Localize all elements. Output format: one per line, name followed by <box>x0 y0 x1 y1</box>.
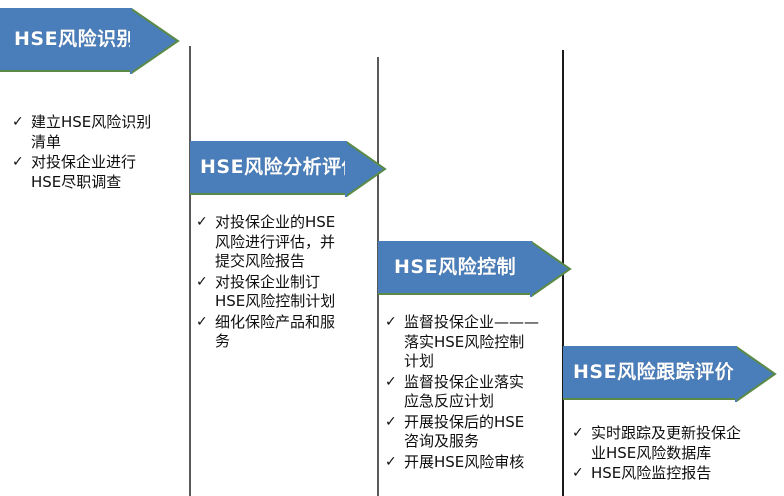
stage-label-3: HSE风险控制 <box>394 258 516 277</box>
check-icon: ✓ <box>385 313 404 331</box>
list-item: ✓ 开展投保后的HSE 咨询及服务 <box>385 413 557 452</box>
bullet-text: 监督投保企业落实 应急反应计划 <box>404 373 557 412</box>
stage-bullets-4: ✓ 实时跟踪及更新投保企 业HSE风险数据库 ✓ HSE风险监控报告 <box>572 424 778 485</box>
stage-bullets-1: ✓ 建立HSE风险识别 清单 ✓ 对投保企业进行 HSE尽职调查 <box>12 113 184 193</box>
stage-label-4: HSE风险跟踪评价 <box>573 363 734 382</box>
list-item: ✓ 建立HSE风险识别 清单 <box>12 113 184 152</box>
stage-label-2: HSE风险分析评估 <box>200 158 361 177</box>
check-icon: ✓ <box>12 113 31 131</box>
bullet-text: 开展投保后的HSE 咨询及服务 <box>404 413 557 452</box>
list-item: ✓ HSE风险监控报告 <box>572 464 778 484</box>
list-item: ✓ 细化保险产品和服 务 <box>196 313 372 352</box>
check-icon: ✓ <box>12 153 31 171</box>
list-item: ✓ 对投保企业的HSE 风险进行评估，并 提交风险报告 <box>196 213 372 272</box>
list-item: ✓ 对投保企业进行 HSE尽职调查 <box>12 153 184 192</box>
list-item: ✓ 开展HSE风险审核 <box>385 453 557 473</box>
check-icon: ✓ <box>572 424 591 442</box>
check-icon: ✓ <box>572 464 591 482</box>
bullet-text: 对投保企业进行 HSE尽职调查 <box>31 153 184 192</box>
stage-arrow-2[interactable]: HSE风险分析评估 <box>190 141 345 195</box>
bullet-text: 开展HSE风险审核 <box>404 453 557 473</box>
bullet-text: 建立HSE风险识别 清单 <box>31 113 184 152</box>
stage-arrow-4[interactable]: HSE风险跟踪评价 <box>563 346 735 400</box>
bullet-text: 对投保企业制订 HSE风险控制计划 <box>215 273 372 312</box>
check-icon: ✓ <box>196 313 215 331</box>
hse-process-diagram: HSE风险识别 ✓ 建立HSE风险识别 清单 ✓ 对投保企业进行 HSE尽职调查… <box>0 0 784 496</box>
stage-label-1: HSE风险识别 <box>14 30 136 49</box>
bullet-text: HSE风险监控报告 <box>591 464 778 484</box>
bullet-text: 对投保企业的HSE 风险进行评估，并 提交风险报告 <box>215 213 372 272</box>
column-divider-1 <box>189 46 191 496</box>
column-divider-3 <box>562 50 564 496</box>
stage-arrow-1[interactable]: HSE风险识别 <box>0 8 130 72</box>
stage-bullets-3: ✓ 监督投保企业——— 落实HSE风险控制 计划 ✓ 监督投保企业落实 应急反应… <box>385 313 557 473</box>
bullet-text: 监督投保企业——— 落实HSE风险控制 计划 <box>404 313 557 372</box>
check-icon: ✓ <box>385 413 404 431</box>
stage-arrow-3[interactable]: HSE风险控制 <box>378 241 530 295</box>
list-item: ✓ 实时跟踪及更新投保企 业HSE风险数据库 <box>572 424 778 463</box>
list-item: ✓ 监督投保企业落实 应急反应计划 <box>385 373 557 412</box>
check-icon: ✓ <box>196 273 215 291</box>
bullet-text: 实时跟踪及更新投保企 业HSE风险数据库 <box>591 424 778 463</box>
check-icon: ✓ <box>385 453 404 471</box>
list-item: ✓ 监督投保企业——— 落实HSE风险控制 计划 <box>385 313 557 372</box>
stage-bullets-2: ✓ 对投保企业的HSE 风险进行评估，并 提交风险报告 ✓ 对投保企业制订 HS… <box>196 213 372 353</box>
check-icon: ✓ <box>385 373 404 391</box>
list-item: ✓ 对投保企业制订 HSE风险控制计划 <box>196 273 372 312</box>
check-icon: ✓ <box>196 213 215 231</box>
bullet-text: 细化保险产品和服 务 <box>215 313 372 352</box>
